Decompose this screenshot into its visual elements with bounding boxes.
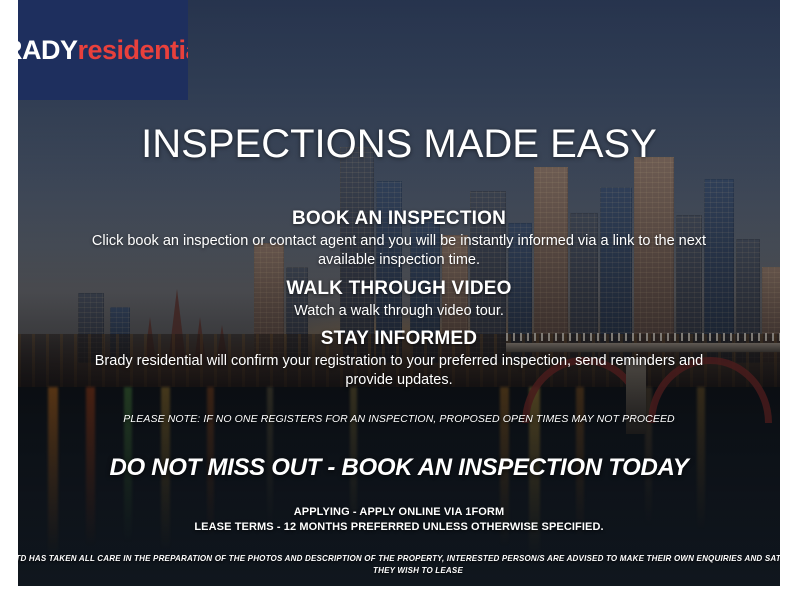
section-title-walk-through-video: WALK THROUGH VIDEO <box>18 278 780 300</box>
section-title-stay-informed: STAY INFORMED <box>18 328 780 350</box>
terms-lease: LEASE TERMS - 12 MONTHS PREFERRED UNLESS… <box>18 520 780 535</box>
call-to-action-text: DO NOT MISS OUT - BOOK AN INSPECTION TOD… <box>18 454 780 482</box>
terms-block: APPLYING - APPLY ONLINE VIA 1FORM LEASE … <box>18 505 780 535</box>
section-book-an-inspection: BOOK AN INSPECTION Click book an inspect… <box>18 208 780 269</box>
legal-disclaimer: TY LTD HAS TAKEN ALL CARE IN THE PREPARA… <box>18 553 780 578</box>
section-stay-informed: STAY INFORMED Brady residential will con… <box>18 328 780 389</box>
section-body-stay-informed: Brady residential will confirm your regi… <box>69 352 729 389</box>
legal-disclaimer-line-2: THEY WISH TO LEASE <box>18 565 780 577</box>
please-note-text: PLEASE NOTE: IF NO ONE REGISTERS FOR AN … <box>18 413 780 425</box>
page-root: BRADYresidential INSPECTIONS MADE EASY B… <box>0 0 800 600</box>
section-walk-through-video: WALK THROUGH VIDEO Watch a walk through … <box>18 278 780 321</box>
promotional-banner: BRADYresidential INSPECTIONS MADE EASY B… <box>18 0 780 586</box>
terms-applying: APPLYING - APPLY ONLINE VIA 1FORM <box>18 505 780 520</box>
banner-text-content: INSPECTIONS MADE EASY BOOK AN INSPECTION… <box>18 0 780 586</box>
section-body-walk-through-video: Watch a walk through video tour. <box>69 302 729 321</box>
legal-disclaimer-line-1: TY LTD HAS TAKEN ALL CARE IN THE PREPARA… <box>18 553 780 565</box>
page-title: INSPECTIONS MADE EASY <box>18 122 780 167</box>
section-body-book-an-inspection: Click book an inspection or contact agen… <box>69 232 729 269</box>
section-title-book-an-inspection: BOOK AN INSPECTION <box>18 208 780 230</box>
